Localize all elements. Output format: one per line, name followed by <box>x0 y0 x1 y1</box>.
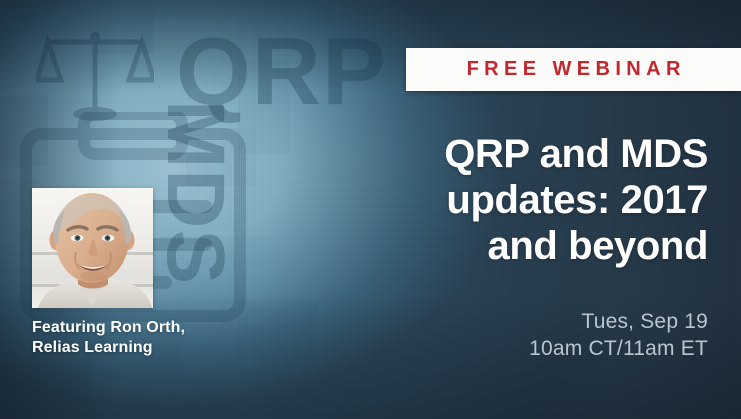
speaker-caption: Featuring Ron Orth, Relias Learning <box>32 318 282 358</box>
page-title: QRP and MDS updates: 2017 and beyond <box>368 131 708 269</box>
schedule-block: Tues, Sep 19 10am CT/11am ET <box>378 308 708 362</box>
speaker-caption-line-1: Featuring Ron Orth, <box>32 318 282 338</box>
headline-line-2: updates: 2017 <box>368 177 708 223</box>
webinar-promo-banner: QRP MDS FREE WEBINAR QRP and MDS updates… <box>0 0 741 419</box>
free-webinar-ribbon: FREE WEBINAR <box>406 48 741 91</box>
schedule-date: Tues, Sep 19 <box>378 308 708 335</box>
speaker-portrait-illustration <box>32 188 153 308</box>
headline-line-1: QRP and MDS <box>368 131 708 177</box>
speaker-caption-line-2: Relias Learning <box>32 338 282 358</box>
free-webinar-label: FREE WEBINAR <box>461 58 686 81</box>
speaker-photo <box>32 188 153 308</box>
headline-line-3: and beyond <box>368 223 708 269</box>
schedule-time: 10am CT/11am ET <box>378 335 708 362</box>
